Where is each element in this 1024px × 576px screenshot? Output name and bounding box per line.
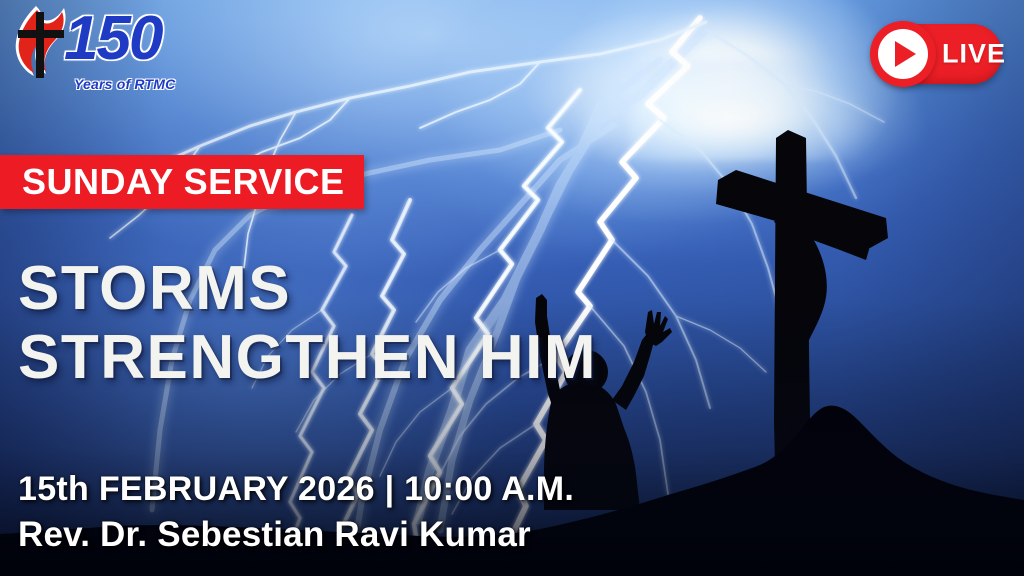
ribbon-label: SUNDAY SERVICE <box>22 164 344 200</box>
play-triangle-icon <box>895 41 916 67</box>
service-speaker: Rev. Dr. Sebestian Ravi Kumar <box>18 515 574 555</box>
service-details: 15th FEBRUARY 2026 | 10:00 A.M. Rev. Dr.… <box>18 470 574 555</box>
logo-anniversary-number: 150 <box>64 8 161 70</box>
live-play-button[interactable] <box>870 21 936 87</box>
sermon-title-line-1: STORMS <box>18 258 597 319</box>
sunday-service-ribbon: SUNDAY SERVICE <box>0 155 364 209</box>
livestream-thumbnail: 150 Years of RTMC LIVE SUNDAY SERVICE ST… <box>0 0 1024 576</box>
live-label: LIVE <box>942 39 1006 70</box>
logo-tagline: Years of RTMC <box>74 76 175 92</box>
live-badge[interactable]: LIVE <box>874 24 1002 84</box>
sermon-title: STORMS STRENGTHEN HIM <box>18 258 597 389</box>
rtmc-anniversary-logo[interactable]: 150 Years of RTMC <box>12 4 182 104</box>
live-play-button-inner <box>878 29 928 79</box>
sermon-title-line-2: STRENGTHEN HIM <box>18 327 597 388</box>
service-date-time: 15th FEBRUARY 2026 | 10:00 A.M. <box>18 470 574 509</box>
